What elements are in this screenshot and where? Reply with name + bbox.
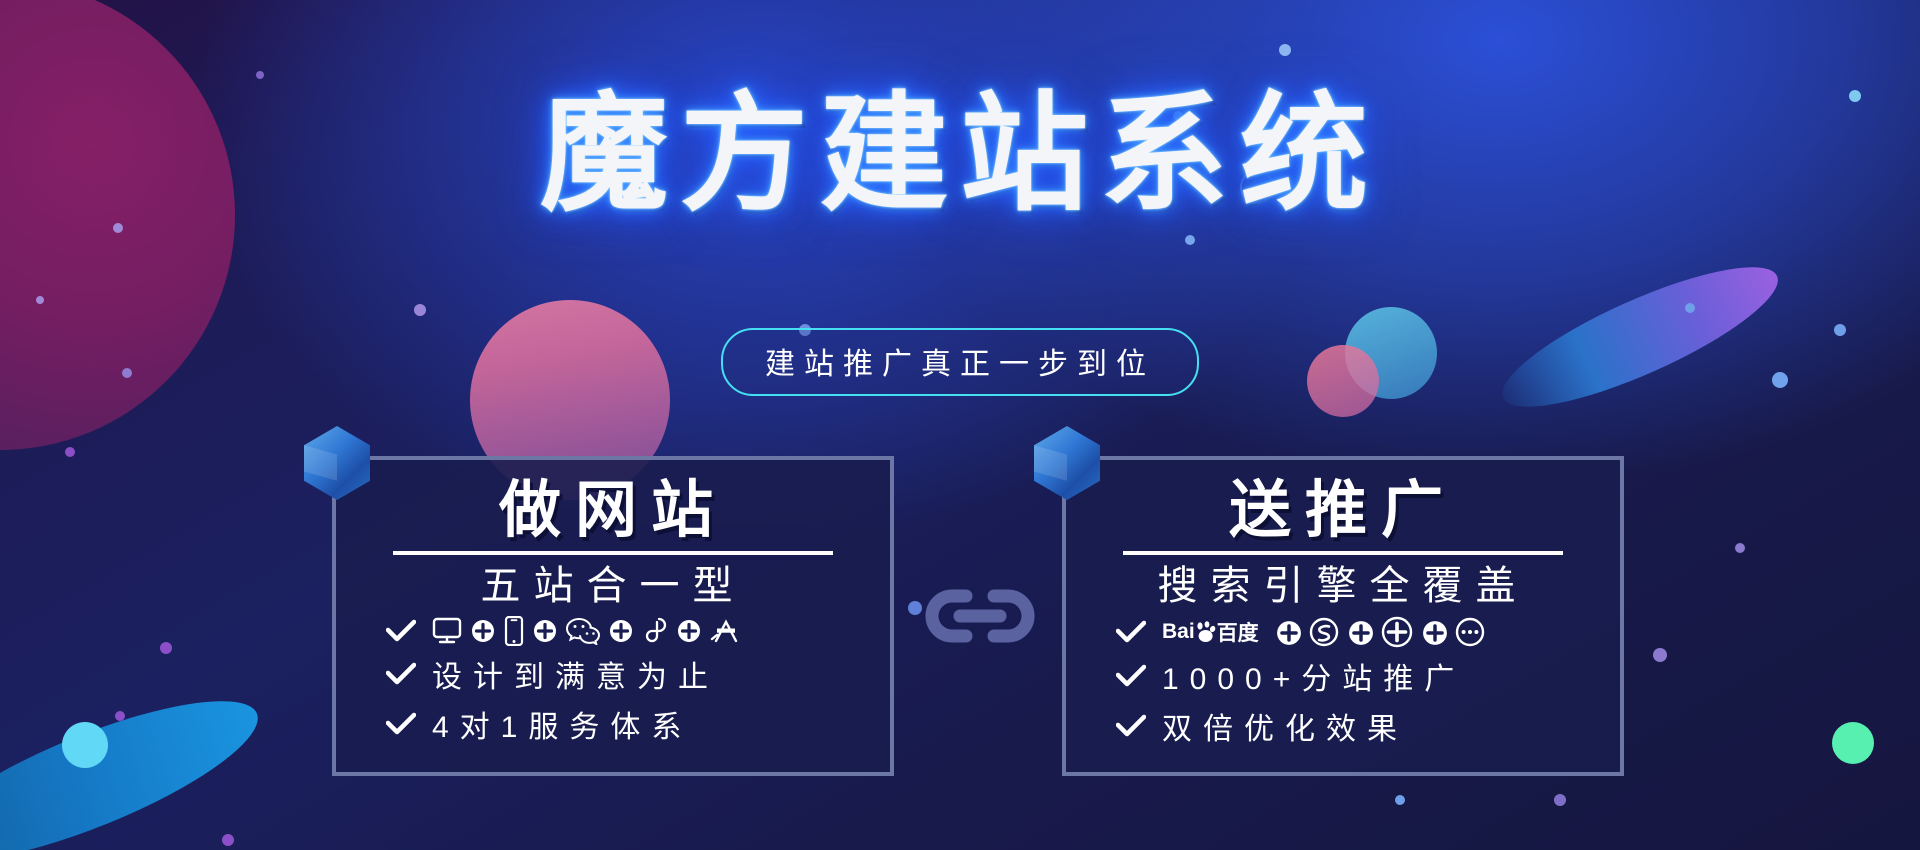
star-dot: [115, 711, 125, 721]
plus-icon: [677, 619, 701, 643]
wechat-icon: [566, 617, 600, 645]
qihoo-360-icon: [1381, 616, 1413, 648]
promo-banner: 魔方建站系统 建站推广真正一步到位 做网站 五站合一型: [0, 0, 1920, 850]
check-icon: [386, 619, 416, 643]
card-divider: [1123, 551, 1563, 555]
star-dot: [256, 71, 264, 79]
star-dot: [222, 834, 234, 846]
star-dot: [1395, 795, 1405, 805]
star-dot: [414, 304, 426, 316]
sogou-icon: [1309, 617, 1339, 647]
baidu-cn-label: 百度: [1217, 617, 1259, 647]
star-dot: [1653, 648, 1667, 662]
feature-label: 双倍优化效果: [1162, 704, 1408, 748]
feature-row-text: 4对1服务体系: [352, 702, 874, 746]
plus-icon: [471, 619, 495, 643]
check-icon: [1116, 620, 1146, 644]
baidu-latin-label: Bai: [1162, 620, 1195, 644]
monitor-icon: [432, 617, 462, 645]
star-dot: [1279, 44, 1291, 56]
feature-row-icons: Bai 百度: [1082, 616, 1604, 648]
star-dot: [1685, 303, 1695, 313]
feature-label: 设计到满意为止: [432, 652, 719, 696]
subtitle-block: 建站推广真正一步到位: [0, 328, 1920, 396]
plus-icon: [609, 619, 633, 643]
feature-row-text: 设计到满意为止: [352, 652, 874, 696]
card-free-promotion[interactable]: 送推广 搜索引擎全覆盖 Bai 百度: [1062, 456, 1624, 776]
platform-icon-row: [432, 616, 742, 646]
star-dot: [1554, 794, 1566, 806]
title-block: 魔方建站系统: [0, 88, 1920, 222]
app-store-icon: [710, 617, 742, 645]
card-subtitle: 五站合一型: [352, 563, 874, 610]
check-icon: [1116, 714, 1146, 738]
mint-dot-decor: [1832, 722, 1874, 764]
douyin-music-icon: [642, 616, 668, 646]
check-icon: [386, 662, 416, 686]
feature-label: 4对1服务体系: [432, 702, 692, 746]
cyan-dot-decor: [62, 722, 108, 768]
card-subtitle: 搜索引擎全覆盖: [1082, 563, 1604, 610]
card-make-website[interactable]: 做网站 五站合一型: [332, 456, 894, 776]
star-dot: [65, 447, 75, 457]
chain-link-icon: [920, 580, 1040, 652]
card-title: 做网站: [352, 478, 874, 545]
plus-icon: [1348, 620, 1372, 644]
star-dot: [1185, 235, 1195, 245]
card-title: 送推广: [1082, 478, 1604, 545]
feature-label: 1000+分站推广: [1162, 654, 1465, 698]
feature-row-text: 双倍优化效果: [1082, 704, 1604, 748]
search-engine-icon-row: Bai 百度: [1162, 616, 1485, 648]
check-icon: [386, 712, 416, 736]
star-dot: [113, 223, 123, 233]
plus-icon: [1422, 620, 1446, 644]
feature-row-text: 1000+分站推广: [1082, 654, 1604, 698]
subtitle-pill: 建站推广真正一步到位: [721, 328, 1199, 396]
page-title: 魔方建站系统: [540, 88, 1380, 222]
star-dot: [160, 642, 172, 654]
star-dot: [1735, 543, 1745, 553]
plus-icon: [533, 619, 557, 643]
feature-row-icons: [352, 616, 874, 646]
plus-icon: [1276, 620, 1300, 644]
card-divider: [393, 551, 833, 555]
blue-comet-decor: [0, 671, 274, 850]
check-icon: [1116, 664, 1146, 688]
baidu-logo-icon: Bai 百度: [1162, 617, 1259, 647]
more-ellipsis-icon: [1455, 617, 1485, 647]
mobile-phone-icon: [504, 616, 524, 646]
star-dot: [36, 296, 44, 304]
